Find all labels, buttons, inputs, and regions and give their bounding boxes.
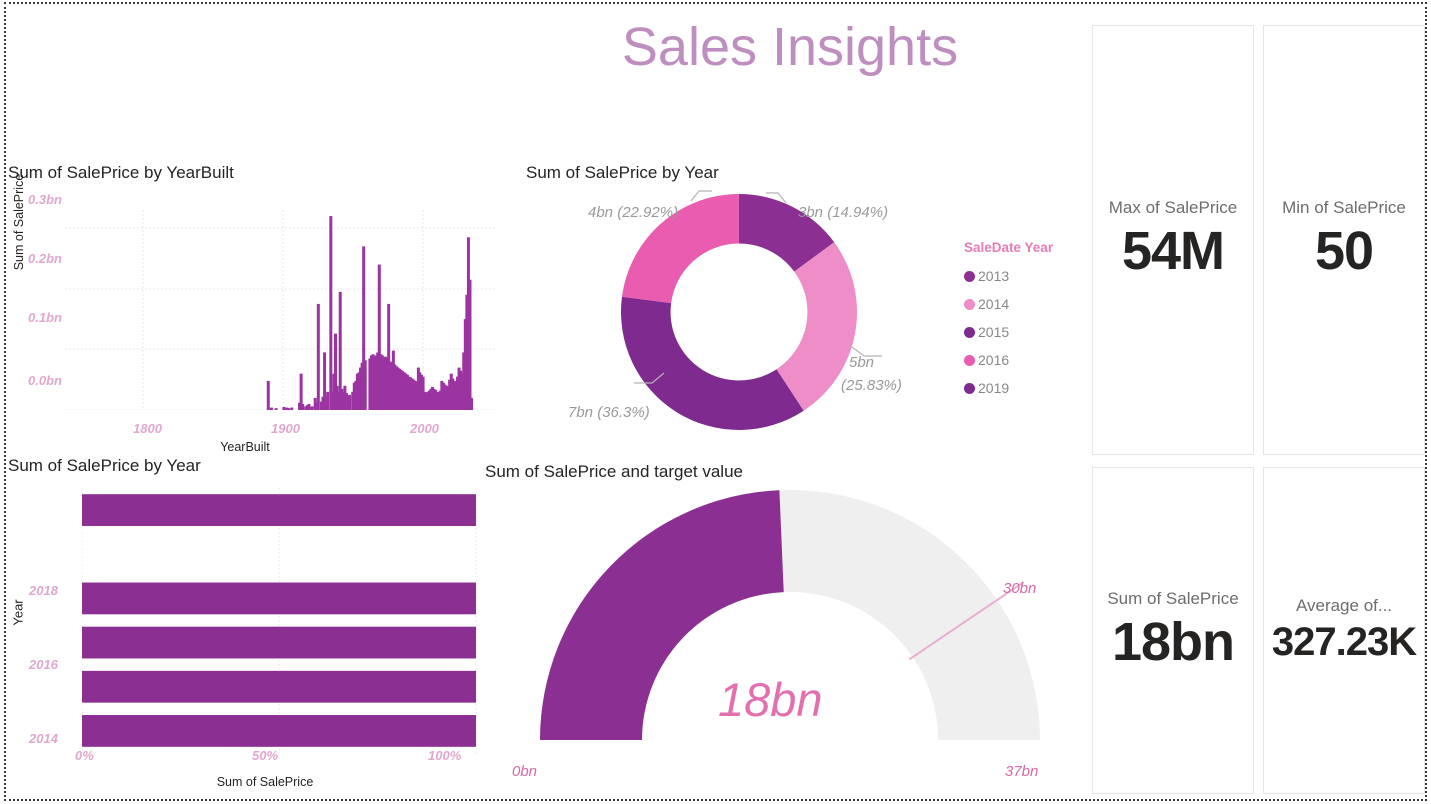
legend-color-swatch-2013 (964, 271, 975, 282)
kpi-value-sum-saleprice: 18bn (1112, 611, 1234, 673)
donut-callout-2016: 4bn (22.92%) (588, 203, 678, 223)
legend-item-2015[interactable]: 2015 (964, 318, 1079, 346)
bars-saleprice-by-year[interactable]: Sum of SalePrice by Year Year Sum of Sal… (0, 450, 505, 804)
histogram-bars (267, 216, 473, 410)
histogram-xtick-2000: 2000 (410, 421, 439, 436)
legend-item-2019[interactable]: 2019 (964, 374, 1079, 402)
histogram-bar[interactable] (470, 398, 473, 410)
bars-y-axis-label: Year (11, 588, 26, 638)
donut-saleprice-by-year[interactable]: Sum of SalePrice by Year 4bn (22.92%) 3b… (512, 155, 1082, 460)
gauge-value-label: 18bn (718, 672, 823, 727)
donut-callout-2015: 7bn (36.3%) (568, 403, 650, 423)
gauge-svg (500, 482, 1080, 772)
donut-title: Sum of SalePrice by Year (526, 163, 719, 183)
legend-label-2015: 2015 (978, 324, 1009, 340)
bars-x-axis-label: Sum of SalePrice (217, 775, 314, 789)
histogram-bar[interactable] (317, 304, 320, 410)
histogram-bar[interactable] (364, 360, 367, 410)
kpi-value-average-of: 327.23K (1272, 618, 1416, 666)
bar-2016[interactable] (82, 583, 476, 615)
legend-color-swatch-2016 (964, 355, 975, 366)
kpi-card-sum-saleprice[interactable]: Sum of SalePrice 18bn (1092, 467, 1254, 794)
kpi-value-max-saleprice: 54M (1122, 220, 1224, 282)
histogram-title: Sum of SalePrice by YearBuilt (8, 163, 234, 183)
bar-2014[interactable] (82, 671, 476, 703)
kpi-label-sum-saleprice: Sum of SalePrice (1107, 589, 1238, 609)
gauge-title: Sum of SalePrice and target value (485, 462, 743, 482)
kpi-card-min-saleprice[interactable]: Min of SalePrice 50 (1263, 25, 1425, 455)
donut-legend-title: SaleDate Year (964, 240, 1079, 255)
histogram-gridlines (65, 210, 495, 410)
donut-legend[interactable]: SaleDate Year 2013 2014 2015 2016 2019 (964, 240, 1079, 402)
bars-ytick-2014: 2014 (29, 731, 58, 746)
donut-callout-2014-value: 5bn (849, 353, 874, 373)
legend-color-swatch-2014 (964, 299, 975, 310)
histogram-bar[interactable] (290, 408, 293, 410)
histogram-saleprice-by-yearbuilt[interactable]: Sum of SalePrice by YearBuilt Sum of Sal… (0, 155, 505, 460)
bar-2019[interactable] (82, 494, 476, 526)
kpi-label-max-saleprice: Max of SalePrice (1109, 198, 1238, 218)
bars-ytick-2016: 2016 (29, 657, 58, 672)
histogram-bar[interactable] (348, 395, 351, 410)
bars-svg (82, 488, 477, 753)
histogram-xtick-1900: 1900 (271, 421, 300, 436)
legend-label-2019: 2019 (978, 380, 1009, 396)
donut-svg (552, 187, 952, 437)
histogram-ytick-3: 0.3bn (28, 192, 62, 207)
bars-title: Sum of SalePrice by Year (8, 456, 201, 476)
bars-plot-area (82, 488, 477, 753)
page-title: Sales Insights (520, 10, 1060, 84)
histogram-bar[interactable] (326, 392, 329, 410)
histogram-bar[interactable] (329, 216, 332, 410)
kpi-label-average-of: Average of... (1296, 596, 1392, 616)
gauge-max-label: 37bn (1005, 763, 1038, 780)
kpi-card-average-of[interactable]: Average of... 327.23K (1263, 467, 1425, 794)
histogram-bar[interactable] (287, 408, 290, 410)
kpi-card-max-saleprice[interactable]: Max of SalePrice 54M (1092, 25, 1254, 455)
legend-item-2013[interactable]: 2013 (964, 262, 1079, 290)
donut-callout-2013: 3bn (14.94%) (798, 203, 888, 223)
legend-label-2014: 2014 (978, 296, 1009, 312)
kpi-value-min-saleprice: 50 (1315, 220, 1373, 282)
legend-item-2016[interactable]: 2016 (964, 346, 1079, 374)
kpi-label-min-saleprice: Min of SalePrice (1282, 198, 1406, 218)
histogram-plot-area (65, 210, 495, 410)
bar-2015[interactable] (82, 627, 476, 659)
legend-color-swatch-2015 (964, 327, 975, 338)
histogram-bar[interactable] (270, 408, 273, 410)
histogram-xtick-1800: 1800 (133, 421, 162, 436)
histogram-bar[interactable] (267, 381, 270, 410)
legend-label-2013: 2013 (978, 268, 1009, 284)
legend-label-2016: 2016 (978, 352, 1009, 368)
donut-callout-2014-percent: (25.83%) (841, 376, 902, 396)
bars-gridlines (82, 488, 476, 753)
legend-item-2014[interactable]: 2014 (964, 290, 1079, 318)
gauge-saleprice-target[interactable]: Sum of SalePrice and target value 18bn 0… (470, 450, 1095, 804)
bars-ytick-2018: 2018 (29, 583, 58, 598)
gauge-target-label: 30bn (1003, 580, 1036, 597)
report-page: Sales Insights Sum of SalePrice by YearB… (0, 0, 1431, 804)
histogram-svg (65, 210, 495, 410)
histogram-ytick-1: 0.1bn (28, 310, 62, 325)
histogram-y-axis-label: Sum of SalePrice (12, 167, 26, 277)
histogram-bar[interactable] (307, 404, 310, 410)
histogram-bar[interactable] (282, 407, 285, 410)
histogram-bar[interactable] (468, 280, 471, 410)
gauge-min-label: 0bn (512, 763, 537, 780)
histogram-bar[interactable] (311, 406, 314, 410)
histogram-ytick-0: 0.0bn (28, 373, 62, 388)
histogram-bar[interactable] (301, 404, 304, 410)
legend-color-swatch-2019 (964, 383, 975, 394)
histogram-ytick-2: 0.2bn (28, 251, 62, 266)
donut-slices[interactable] (621, 194, 857, 430)
bar-2013[interactable] (82, 715, 476, 747)
histogram-bar[interactable] (275, 408, 278, 410)
